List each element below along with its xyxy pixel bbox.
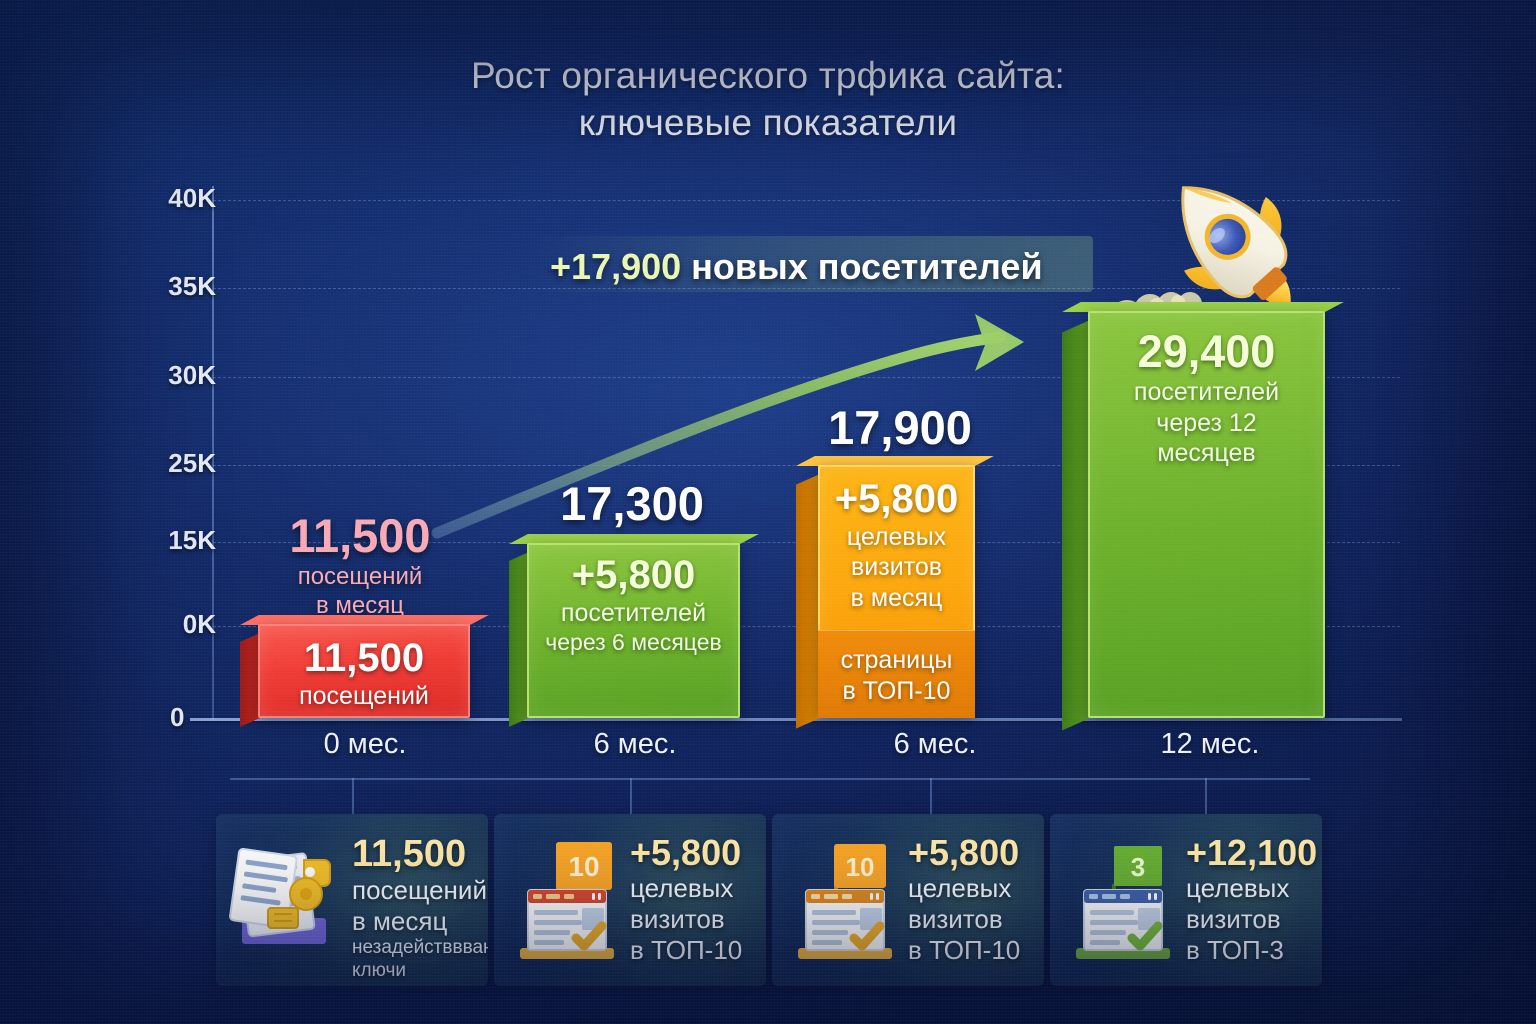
bar-0-inner-line1: посещений <box>264 681 464 712</box>
y-axis-origin-label: 0 <box>170 702 184 733</box>
card-1-line1: целевых <box>630 873 758 904</box>
bar-3-inner-line1: посетителей <box>1094 377 1319 408</box>
bar-6-months-visitors[interactable]: +5,800 посетителей через 6 месяцев <box>527 543 740 718</box>
y-tick-30k: 30K <box>96 360 216 391</box>
bar-1-inner-value: +5,800 <box>533 553 734 598</box>
browser-window-icon: 10 <box>784 834 904 964</box>
bar-0-inner-text: 11,500 посещений <box>258 636 470 711</box>
bar-3-inner-text: 29,400 посетителей через 12 месяцев <box>1088 327 1325 469</box>
bar-3-inner-line3: месяцев <box>1094 438 1319 469</box>
card-0-note2: ключи <box>352 960 480 982</box>
infographic-canvas: Рост органического трфика сайта: ключевы… <box>0 0 1536 1024</box>
bar-0-value: 11,500 <box>228 510 492 562</box>
x-label-2: 6 мес. <box>810 728 1060 761</box>
bar-2-lower-text: страницы в ТОП-10 <box>818 645 975 706</box>
card-1-badge: 10 <box>568 851 599 882</box>
bar-1-inner-text: +5,800 посетителей через 6 месяцев <box>527 553 740 656</box>
card-3-badge: 3 <box>1131 852 1145 882</box>
annotation-new-visitors: +17,900 новых посетителей <box>550 246 1043 288</box>
connector-drop-3 <box>1205 778 1207 814</box>
bar-1-inner-line2: через 6 месяцев <box>533 628 734 656</box>
card-2-line3: в ТОП-10 <box>908 935 1036 966</box>
bar-3-inner-value: 29,400 <box>1094 327 1319 377</box>
card-top3-text: +12,100 целевых визитов в ТОП-3 <box>1186 834 1314 966</box>
card-2-line2: визитов <box>908 904 1036 935</box>
bar-2-inner-line1: целевых <box>824 522 969 553</box>
bar-top-label-0-months: 11,500 посещений в месяц <box>228 510 492 620</box>
annotation-label: новых посетителей <box>691 246 1042 287</box>
card-0-line2: в месяц <box>352 906 480 937</box>
connector-drop-0 <box>352 778 354 814</box>
card-unused-keys-text: 11,500 посещений в месяц незадействвванн… <box>352 834 480 982</box>
x-label-1: 6 мес. <box>510 728 760 761</box>
card-1-number: +5,800 <box>630 834 758 873</box>
bar-2-value: 17,900 <box>768 402 1032 454</box>
bar-0-months[interactable]: 11,500 посещений <box>258 624 470 718</box>
bar-2-lower-segment: страницы в ТОП-10 <box>818 630 975 718</box>
y-tick-0k: 0K <box>96 609 216 640</box>
documents-keys-icon <box>228 834 348 964</box>
browser-window-icon: 3 <box>1062 834 1182 964</box>
browser-window-icon: 10 <box>506 834 626 964</box>
card-0-note1: незадействвванные <box>352 937 480 959</box>
bar-1-side-face <box>509 552 529 727</box>
annotation-number: +17,900 <box>550 246 681 287</box>
bar-0-side-face <box>240 633 260 727</box>
bar-12-months[interactable]: 29,400 посетителей через 12 месяцев <box>1088 311 1325 718</box>
bar-3-side-face <box>1062 320 1090 730</box>
card-top10-a-text: +5,800 целевых визитов в ТОП-10 <box>630 834 758 966</box>
bar-top-label-6-months-targeted: 17,900 <box>768 402 1032 454</box>
card-top10-b[interactable]: 10 +5,800 целевых визитов в ТОП-1 <box>772 814 1044 986</box>
bar-2-side-face <box>796 474 820 729</box>
bar-2-inner-line2: визитов <box>824 552 969 583</box>
card-top10-a[interactable]: 10 +5,800 целевых визитов в ТОП-1 <box>494 814 766 986</box>
bar-2-inner-text: +5,800 целевых визитов в месяц <box>818 477 975 613</box>
bar-top-label-6-months-visitors: 17,300 <box>500 478 764 530</box>
card-top10-b-text: +5,800 целевых визитов в ТОП-10 <box>908 834 1036 966</box>
bar-2-lower-line1: страницы <box>824 645 969 676</box>
card-2-line1: целевых <box>908 873 1036 904</box>
card-0-line1: посещений <box>352 875 480 906</box>
y-tick-25k: 25K <box>96 448 216 479</box>
x-label-0: 0 мес. <box>235 728 495 761</box>
bar-3-inner-line2: через 12 <box>1094 408 1319 439</box>
x-label-3: 12 мес. <box>1085 728 1335 761</box>
bar-0-inner-value: 11,500 <box>264 636 464 681</box>
card-2-number: +5,800 <box>908 834 1036 873</box>
bar-2-lower-line2: в ТОП-10 <box>824 676 969 707</box>
y-tick-40k: 40K <box>96 183 216 214</box>
card-3-line3: в ТОП-3 <box>1186 935 1314 966</box>
connector-drop-2 <box>930 778 932 814</box>
bar-2-inner-line3: в месяц <box>824 583 969 614</box>
bar-6-months-targeted[interactable]: страницы в ТОП-10 +5,800 целевых визитов… <box>818 465 975 718</box>
card-0-number: 11,500 <box>352 834 480 875</box>
y-tick-15k: 15K <box>96 525 216 556</box>
card-1-line2: визитов <box>630 904 758 935</box>
bar-1-value: 17,300 <box>500 478 764 530</box>
card-3-line2: визитов <box>1186 904 1314 935</box>
card-top3[interactable]: 3 +12,100 целевых визитов в ТОП-3 <box>1050 814 1322 986</box>
connector-drop-1 <box>630 778 632 814</box>
card-2-badge: 10 <box>846 852 875 882</box>
connector-horizontal <box>230 778 1310 780</box>
y-tick-35k: 35K <box>96 271 216 302</box>
bar-2-inner-value: +5,800 <box>824 477 969 522</box>
bar-1-inner-line1: посетителей <box>533 598 734 629</box>
card-unused-keys[interactable]: 11,500 посещений в месяц незадействвванн… <box>216 814 488 986</box>
card-3-line1: целевых <box>1186 873 1314 904</box>
card-1-line3: в ТОП-10 <box>630 935 758 966</box>
bar-0-sub1: посещений <box>228 562 492 591</box>
card-3-number: +12,100 <box>1186 834 1314 873</box>
